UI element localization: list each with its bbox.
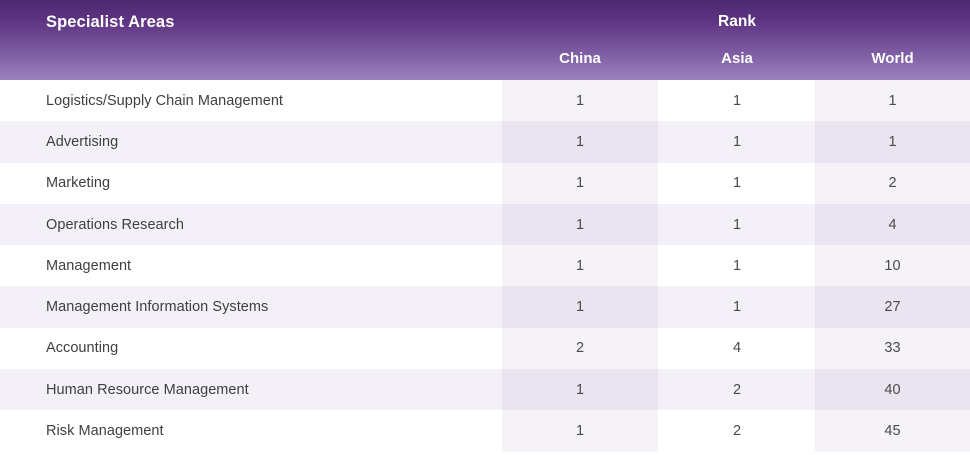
ranking-table: Specialist Areas Rank China Asia World L…	[0, 0, 970, 455]
cell-rank-asia: 1	[659, 299, 815, 315]
cell-specialist-area: Advertising	[46, 134, 118, 150]
cell-rank-asia: 1	[659, 258, 815, 274]
cell-rank-china: 1	[502, 175, 658, 191]
cell-rank-china: 1	[502, 423, 658, 439]
table-row: Accounting2433	[0, 328, 970, 369]
cell-rank-asia: 2	[659, 382, 815, 398]
cell-specialist-area: Accounting	[46, 340, 118, 356]
table-header: Specialist Areas Rank China Asia World	[0, 0, 970, 80]
cell-rank-china: 1	[502, 258, 658, 274]
cell-specialist-area: Human Resource Management	[46, 382, 249, 398]
cell-rank-asia: 1	[659, 175, 815, 191]
cell-rank-asia: 1	[659, 93, 815, 109]
cell-rank-world: 40	[815, 382, 970, 398]
cell-rank-world: 27	[815, 299, 970, 315]
table-row: Risk Management1245	[0, 410, 970, 451]
cell-rank-world: 45	[815, 423, 970, 439]
table-body: Logistics/Supply Chain Management111Adve…	[0, 80, 970, 455]
cell-rank-world: 1	[815, 93, 970, 109]
table-row: Advertising111	[0, 121, 970, 162]
table-row: Management1110	[0, 245, 970, 286]
cell-rank-china: 2	[502, 340, 658, 356]
cell-rank-world: 2	[815, 175, 970, 191]
cell-rank-china: 1	[502, 93, 658, 109]
table-row: Management Information Systems1127	[0, 286, 970, 327]
cell-specialist-area: Risk Management	[46, 423, 164, 439]
column-group-header-rank: Rank	[659, 13, 815, 31]
cell-rank-china: 1	[502, 299, 658, 315]
cell-rank-world: 10	[815, 258, 970, 274]
cell-rank-world: 1	[815, 134, 970, 150]
table-row: Operations Research114	[0, 204, 970, 245]
cell-rank-asia: 2	[659, 423, 815, 439]
cell-rank-asia: 4	[659, 340, 815, 356]
column-header-world: World	[815, 50, 970, 67]
column-header-specialist-areas: Specialist Areas	[46, 13, 174, 32]
cell-rank-china: 1	[502, 134, 658, 150]
table-row: Human Resource Management1240	[0, 369, 970, 410]
table-row: Logistics/Supply Chain Management111	[0, 80, 970, 121]
table-row: Marketing112	[0, 163, 970, 204]
cell-rank-asia: 1	[659, 134, 815, 150]
cell-specialist-area: Marketing	[46, 175, 110, 191]
column-header-asia: Asia	[659, 50, 815, 67]
cell-specialist-area: Operations Research	[46, 217, 184, 233]
cell-rank-china: 1	[502, 382, 658, 398]
cell-specialist-area: Management Information Systems	[46, 299, 268, 315]
cell-specialist-area: Management	[46, 258, 131, 274]
column-header-china: China	[502, 50, 658, 67]
cell-rank-world: 33	[815, 340, 970, 356]
cell-rank-world: 4	[815, 217, 970, 233]
cell-rank-china: 1	[502, 217, 658, 233]
cell-rank-asia: 1	[659, 217, 815, 233]
cell-specialist-area: Logistics/Supply Chain Management	[46, 93, 283, 109]
